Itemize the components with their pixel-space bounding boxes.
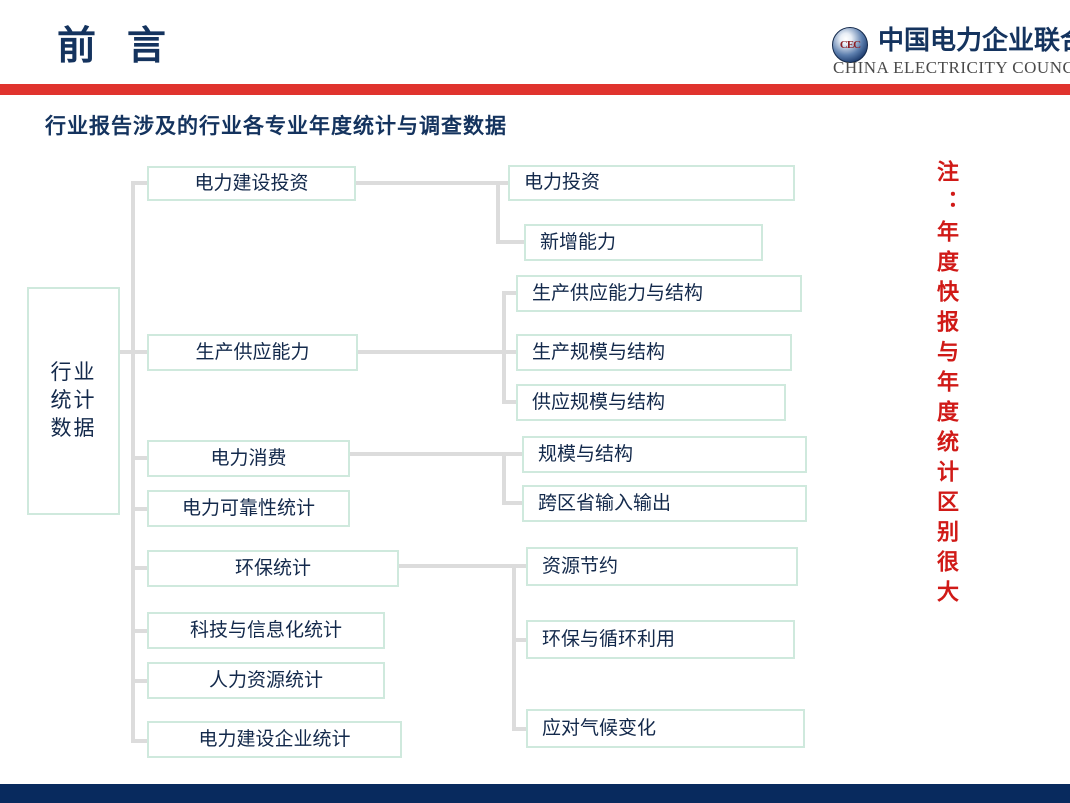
connector-n1-spine [496, 181, 500, 242]
node-scale-structure[interactable]: 规模与结构 [522, 436, 807, 473]
connector-n3-out [350, 452, 506, 456]
note-vertical-text: 注：年度快报与年度统计区别很大 [915, 160, 957, 610]
organization-logo: 中国电力企业联合会 CHINA ELECTRICITY COUNCIL [832, 24, 1068, 80]
connector-n3-to-c6 [502, 452, 522, 456]
connector-n2-out [358, 350, 506, 354]
node-technology-informatization-statistics[interactable]: 科技与信息化统计 [147, 612, 385, 649]
connector-trunk-to-n5 [131, 566, 147, 570]
header-red-rule [0, 84, 1070, 95]
page-title: 前 言 [57, 27, 176, 66]
connector-n3-to-c7 [502, 501, 522, 505]
node-electric-construction-investment[interactable]: 电力建设投资 [147, 166, 356, 201]
node-climate-change-response[interactable]: 应对气候变化 [526, 709, 805, 748]
connector-n5-to-c9 [512, 638, 526, 642]
node-construction-enterprise-statistics[interactable]: 电力建设企业统计 [147, 721, 402, 758]
connector-trunk-to-n2 [131, 350, 147, 354]
connector-n1-to-c2 [496, 240, 524, 244]
connector-n1-to-c1 [496, 181, 508, 185]
connector-n2-to-c3 [502, 291, 516, 295]
footer-bar [0, 784, 1070, 803]
connector-trunk-to-n3 [131, 456, 147, 460]
node-production-supply-capacity[interactable]: 生产供应能力 [147, 334, 358, 371]
connector-trunk-to-n1 [131, 181, 147, 185]
node-production-supply-capacity-structure[interactable]: 生产供应能力与结构 [516, 275, 802, 312]
connector-n2-to-c4 [502, 350, 516, 354]
connector-trunk-to-n6 [131, 629, 147, 633]
node-resource-conservation[interactable]: 资源节约 [526, 547, 798, 586]
connector-trunk-to-n4 [131, 507, 147, 511]
node-human-resources-statistics[interactable]: 人力资源统计 [147, 662, 385, 699]
logo-english-name: CHINA ELECTRICITY COUNCIL [833, 58, 1070, 78]
node-electricity-consumption[interactable]: 电力消费 [147, 440, 350, 477]
connector-n2-spine [502, 291, 506, 402]
connector-n5-out [399, 564, 516, 568]
connector-n2-to-c5 [502, 400, 516, 404]
logo-chinese-name: 中国电力企业联合会 [878, 26, 1070, 55]
connector-n5-to-c10 [512, 727, 526, 731]
node-environmental-statistics[interactable]: 环保统计 [147, 550, 399, 587]
node-new-capacity[interactable]: 新增能力 [524, 224, 763, 261]
connector-trunk-to-n7 [131, 679, 147, 683]
connector-n5-spine [512, 564, 516, 729]
connector-trunk-to-n8 [131, 739, 147, 743]
section-subtitle: 行业报告涉及的行业各专业年度统计与调查数据 [45, 110, 507, 140]
node-root[interactable]: 行业 统计 数据 [27, 287, 120, 515]
slide-canvas: 前 言 中国电力企业联合会 CHINA ELECTRICITY COUNCIL … [0, 0, 1070, 803]
node-cross-region-province-io[interactable]: 跨区省输入输出 [522, 485, 807, 522]
connector-n1-out [356, 181, 500, 185]
node-power-investment[interactable]: 电力投资 [508, 165, 795, 201]
connector-n3-spine [502, 452, 506, 503]
connector-n5-to-c8 [512, 564, 526, 568]
node-environment-recycling[interactable]: 环保与循环利用 [526, 620, 795, 659]
node-reliability-statistics[interactable]: 电力可靠性统计 [147, 490, 350, 527]
node-supply-scale-structure[interactable]: 供应规模与结构 [516, 384, 786, 421]
connector-main-trunk [131, 183, 135, 741]
node-production-scale-structure[interactable]: 生产规模与结构 [516, 334, 792, 371]
